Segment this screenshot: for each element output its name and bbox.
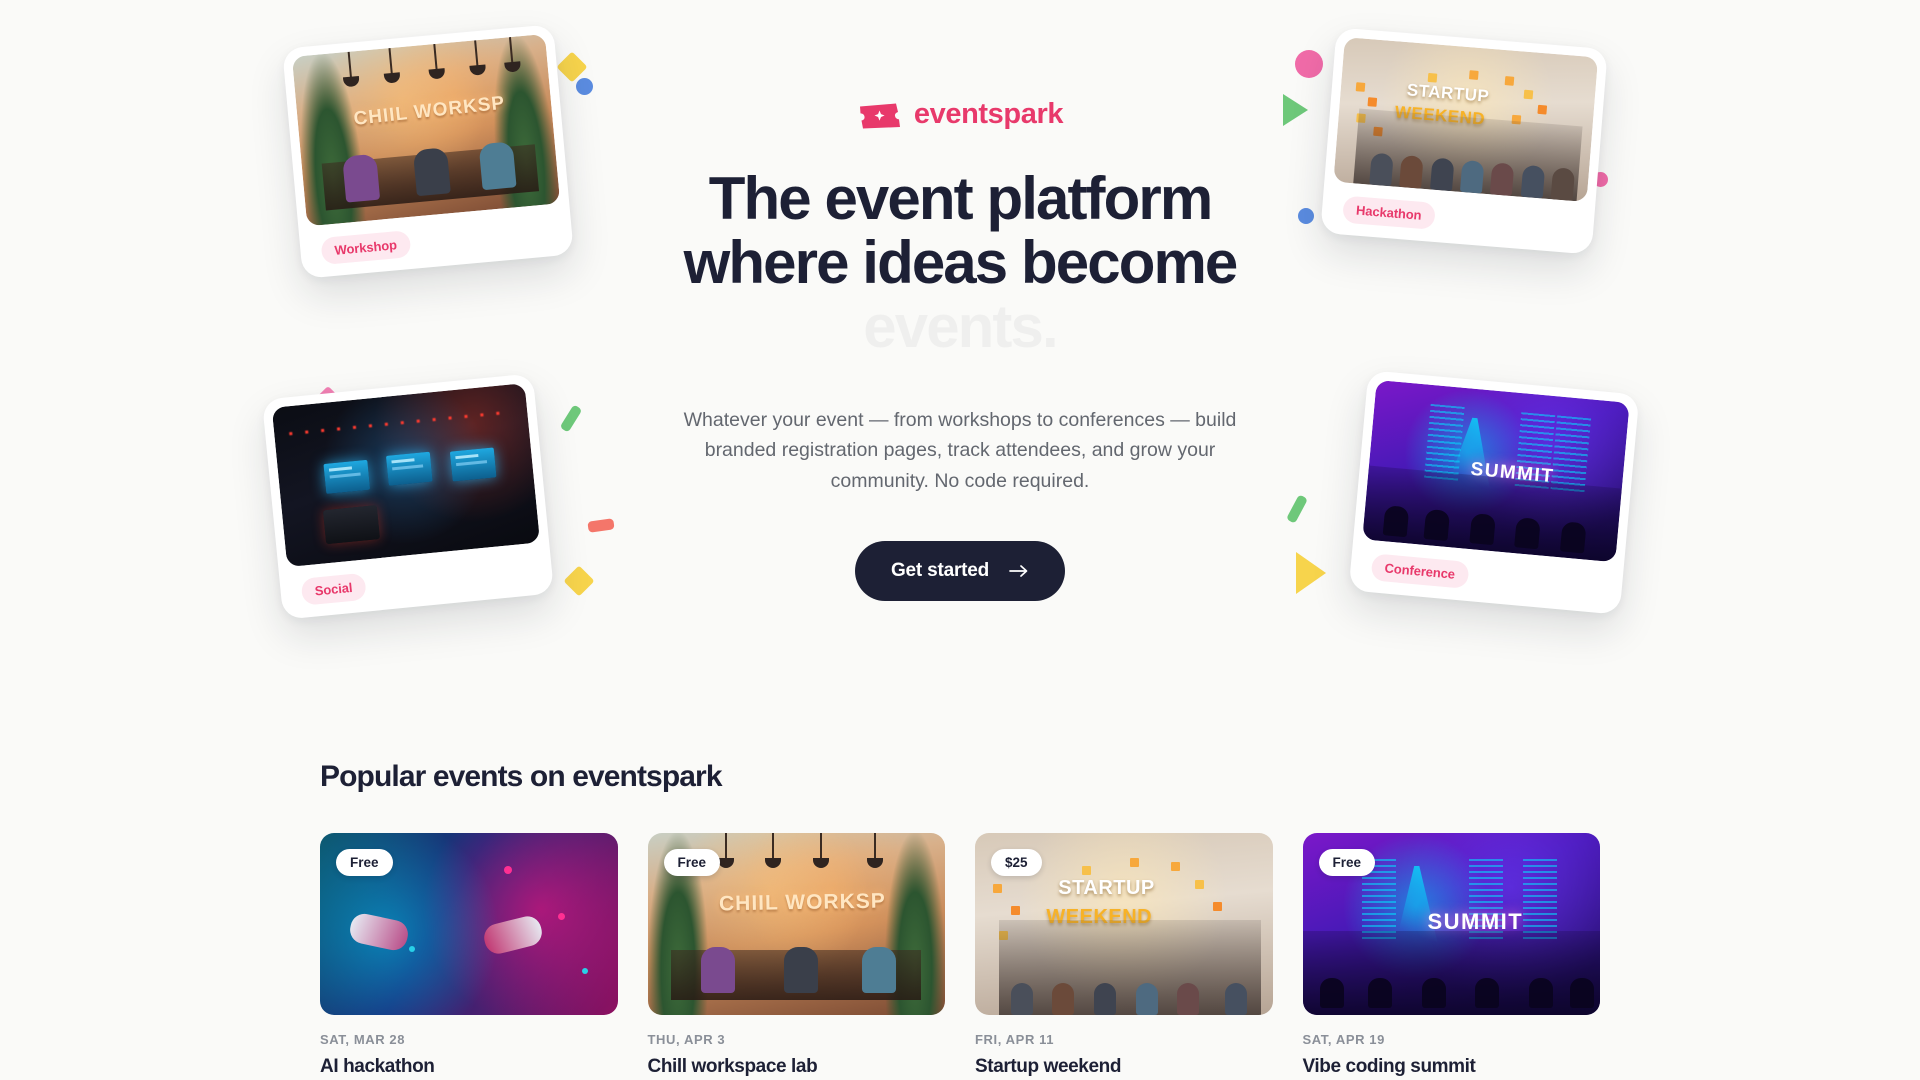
event-card[interactable]: $25 STARTUP WEEKEND (975, 833, 1273, 1078)
event-title: Vibe coding summit (1303, 1056, 1601, 1078)
brand-logo[interactable]: eventspark (580, 98, 1340, 131)
headline-line-1: The event platform (580, 167, 1340, 231)
event-thumbnail: Free CHIIL WORKSP (648, 833, 946, 1015)
thumb-caption: CHIIL WORKSP (719, 890, 886, 917)
event-date: THU, APR 3 (648, 1032, 946, 1047)
showcase-card-social[interactable]: Social (262, 373, 554, 619)
event-card[interactable]: Free SAT, MAR 28 AI hackathon (320, 833, 618, 1078)
event-date: SAT, MAR 28 (320, 1032, 618, 1047)
workshop-photo: CHIIL WORKSP (292, 34, 560, 226)
event-date: SAT, APR 19 (1303, 1032, 1601, 1047)
popular-events-section: Popular events on eventspark Free SAT, M… (0, 760, 1920, 1078)
hero-content: eventspark The event platform where idea… (580, 98, 1340, 601)
event-date: FRI, APR 11 (975, 1032, 1273, 1047)
tag-workshop: Workshop (320, 230, 411, 265)
event-thumbnail: Free (320, 833, 618, 1015)
arrow-right-icon (1009, 564, 1029, 578)
events-grid: Free SAT, MAR 28 AI hackathon Free (320, 833, 1600, 1078)
workshop-caption: CHIIL WORKSP (353, 93, 507, 131)
popular-events-title: Popular events on eventspark (320, 760, 1600, 794)
landing-page: CHIIL WORKSP Workshop (0, 0, 1920, 1080)
ticket-icon (857, 101, 901, 129)
tag-hackathon: Hackathon (1342, 195, 1435, 229)
event-price-badge: Free (664, 849, 721, 876)
page-title: The event platform where ideas become ev… (580, 167, 1340, 360)
headline-line-2: where ideas become (580, 231, 1340, 295)
get-started-label: Get started (891, 560, 989, 582)
social-photo (272, 383, 540, 567)
event-thumbnail: $25 STARTUP WEEKEND (975, 833, 1273, 1015)
event-title: AI hackathon (320, 1056, 618, 1078)
showcase-card-hackathon[interactable]: STARTUP WEEKEND Hackathon (1320, 27, 1608, 254)
hackathon-photo: STARTUP WEEKEND (1333, 37, 1598, 202)
event-price-badge: Free (1319, 849, 1376, 876)
hero-subhead: Whatever your event — from workshops to … (680, 405, 1240, 497)
hero-section: CHIIL WORKSP Workshop (0, 0, 1920, 690)
event-price-badge: $25 (991, 849, 1042, 876)
headline-line-3: events. (580, 295, 1340, 359)
event-title: Chill workspace lab (648, 1056, 946, 1078)
decor-blue-circle-top (576, 78, 593, 95)
decor-green-bar-left (560, 404, 583, 432)
showcase-card-conference[interactable]: SUMMIT Conference (1349, 370, 1640, 615)
tag-conference: Conference (1371, 553, 1470, 589)
cta-container: Get started (580, 541, 1340, 601)
brand-name: eventspark (914, 98, 1063, 131)
tag-social: Social (300, 572, 366, 605)
event-price-badge: Free (336, 849, 393, 876)
thumb-caption-top: STARTUP (1058, 877, 1154, 900)
conference-photo: SUMMIT (1362, 380, 1629, 562)
event-card[interactable]: Free SUMMIT SAT, APR 19 (1303, 833, 1601, 1078)
event-thumbnail: Free SUMMIT (1303, 833, 1601, 1015)
event-title: Startup weekend (975, 1056, 1273, 1078)
showcase-card-workshop[interactable]: CHIIL WORKSP Workshop (282, 24, 574, 279)
event-card[interactable]: Free CHIIL WORKSP THU, APR 3 (648, 833, 946, 1078)
decor-pink-circle-right (1295, 50, 1323, 78)
get-started-button[interactable]: Get started (855, 541, 1065, 601)
